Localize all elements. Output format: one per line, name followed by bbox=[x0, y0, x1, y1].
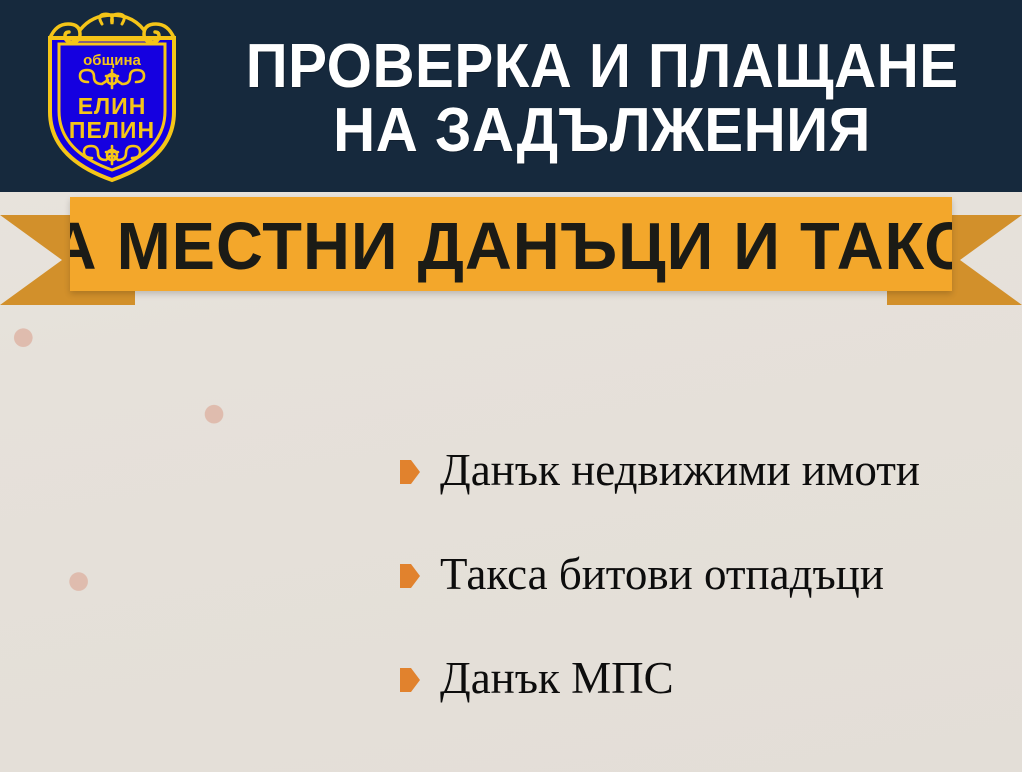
stamp-card-group bbox=[0, 300, 430, 770]
list-item-vehicle-tax[interactable]: Данък МПС bbox=[400, 626, 1010, 730]
house-icon bbox=[56, 355, 185, 477]
list-item-label: Такса битови отпадъци bbox=[440, 552, 884, 597]
tax-type-list: Данък недвижими имоти Такса битови отпад… bbox=[400, 418, 1010, 730]
municipality-logo: община ЕЛИН ПЕЛИН bbox=[36, 8, 188, 184]
logo-name-line2: ПЕЛИН bbox=[69, 117, 155, 143]
page-title: ПРОВЕРКА И ПЛАЩАНЕ НА ЗАДЪЛЖЕНИЯ bbox=[196, 14, 1008, 184]
car-front-icon bbox=[121, 579, 270, 710]
list-item-label: Данък МПС bbox=[440, 656, 674, 701]
ribbon-subtitle: НА МЕСТНИ ДАНЪЦИ И ТАКСИ bbox=[70, 213, 952, 280]
ribbon-band: НА МЕСТНИ ДАНЪЦИ И ТАКСИ bbox=[70, 197, 952, 291]
arrow-bullet-icon bbox=[400, 564, 420, 588]
list-item-property-tax[interactable]: Данък недвижими имоти bbox=[400, 418, 1010, 522]
poster-root: община ЕЛИН ПЕЛИН ПРОВЕРКА И ПЛАЩАНЕ НА … bbox=[0, 0, 1022, 772]
arrow-bullet-icon bbox=[400, 668, 420, 692]
stamp-inner-vehicle bbox=[87, 535, 304, 752]
logo-top-word: община bbox=[83, 52, 141, 69]
logo-name-line1: ЕЛИН bbox=[78, 93, 147, 119]
arrow-bullet-icon bbox=[400, 460, 420, 484]
stamp-inner-property bbox=[31, 327, 209, 505]
list-item-waste-fee[interactable]: Такса битови отпадъци bbox=[400, 522, 1010, 626]
stamp-card-property bbox=[12, 308, 227, 523]
page-title-line-2: НА ЗАДЪЛЖЕНИЯ bbox=[333, 99, 871, 163]
list-item-label: Данък недвижими имоти bbox=[440, 448, 920, 493]
ribbon-banner: НА МЕСТНИ ДАНЪЦИ И ТАКСИ bbox=[0, 197, 1022, 305]
page-title-line-1: ПРОВЕРКА И ПЛАЩАНЕ bbox=[246, 35, 959, 99]
